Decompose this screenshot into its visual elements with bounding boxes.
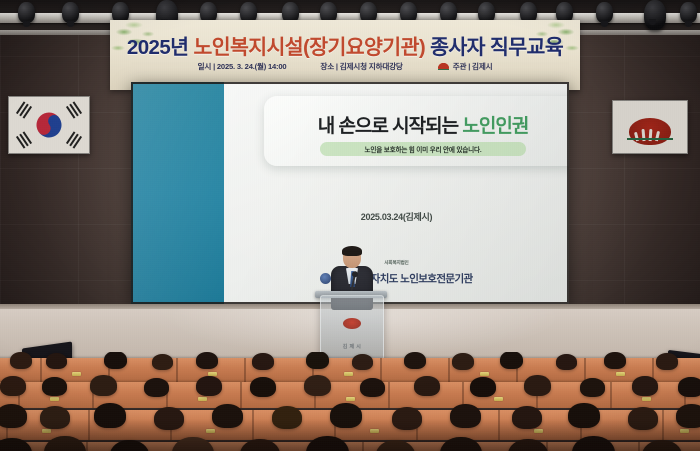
gimje-city-flag (612, 100, 688, 154)
banner-title: 2025년 노인복지시설(장기요양기관) 종사자 직무교육 (110, 30, 580, 60)
photo-scene: 2025년 노인복지시설(장기요양기관) 종사자 직무교육 일시 | 2025.… (0, 0, 700, 451)
city-emblem-bar-icon (627, 138, 673, 140)
podium-emblem-icon (343, 318, 361, 329)
audience-member (452, 353, 474, 370)
audience-member (508, 439, 548, 451)
audience-member (0, 404, 27, 428)
audience-member (352, 354, 373, 370)
slide-footer-org: 전북특별자치도 노인보호전문기관 (224, 271, 569, 286)
par-can-stage-light (644, 0, 666, 30)
slide-title-card: 내 손으로 시작되는 노인인권 노인을 보호하는 힘 이미 우리 안에 있습니다… (264, 96, 569, 166)
event-banner: 2025년 노인복지시설(장기요양기관) 종사자 직무교육 일시 | 2025.… (110, 20, 580, 90)
banner-subheader: 일시 | 2025. 3. 24.(월) 14:00 장소 | 김제시청 지하대… (110, 61, 580, 72)
audience-member (580, 378, 605, 397)
slide-footer-small: 사회복지법인 (224, 260, 569, 266)
audience-member (404, 352, 426, 369)
audience-member (392, 407, 422, 430)
audience-member (0, 376, 26, 396)
audience-member (512, 406, 542, 429)
audience-member (604, 352, 626, 369)
audience-member (252, 353, 274, 370)
banner-title-prefix: 2025년 (127, 36, 194, 59)
par-can-stage-light (18, 2, 35, 23)
audience-member (306, 352, 329, 369)
trigram-icon (16, 101, 32, 118)
banner-date-label: 일시 | 2025. 3. 24.(월) 14:00 (198, 61, 287, 72)
audience-member (304, 375, 331, 396)
audience-member (240, 439, 280, 451)
trigram-icon (66, 101, 82, 118)
audience-member (628, 407, 658, 430)
banner-title-highlight: 노인복지시설(장기요양기관) (193, 36, 425, 59)
slide-left-color-band (131, 82, 224, 304)
banner-host-group: 주관 | 김제시 (437, 61, 493, 72)
audience-member (10, 352, 32, 369)
slide-subtitle-pill: 노인을 보호하는 힘 이미 우리 안에 있습니다. (320, 142, 526, 156)
podium-engraving: 김 제 시 (321, 343, 383, 350)
audience-member (46, 353, 67, 369)
gimje-city-logo-icon (437, 62, 450, 70)
audience-member (414, 376, 440, 396)
taegeuk-icon (32, 108, 67, 143)
banner-host-label: 주관 | 김제시 (453, 62, 493, 71)
audience-member (330, 403, 362, 428)
trigram-icon (66, 131, 82, 148)
audience-member (154, 407, 184, 430)
trigram-icon (16, 131, 32, 148)
audience-member (524, 375, 551, 396)
audience-member (212, 404, 243, 428)
audience-member (152, 354, 173, 370)
audience-member (470, 377, 496, 397)
slide-date-location: 2025.03.24(김제시) (224, 210, 569, 223)
audience-member (250, 377, 276, 397)
audience-member (678, 377, 700, 397)
banner-title-suffix: 종사자 직무교육 (425, 36, 563, 59)
audience-member (360, 378, 385, 397)
slide-title-accent: 노인인권 (462, 116, 528, 137)
audience-member (272, 406, 302, 429)
par-can-stage-light (596, 2, 613, 23)
par-can-stage-light (62, 2, 79, 23)
audience-member (556, 354, 577, 370)
audience-member (196, 376, 222, 396)
audience-member (450, 404, 481, 428)
acrylic-podium: 김 제 시 (320, 295, 384, 359)
audience-member (568, 403, 600, 428)
audience-member (40, 406, 70, 429)
slide-title-main: 내 손으로 시작되는 (318, 116, 463, 137)
slide-title: 내 손으로 시작되는 노인인권 (264, 111, 569, 138)
audience-member (656, 353, 678, 370)
audience-area (0, 352, 700, 451)
audience-member (90, 375, 117, 396)
audience-member (42, 377, 67, 396)
par-can-stage-light (680, 2, 697, 23)
audience-member (196, 352, 218, 369)
korean-national-flag (8, 96, 90, 154)
slide-body: 내 손으로 시작되는 노인인권 노인을 보호하는 힘 이미 우리 안에 있습니다… (224, 82, 569, 304)
slide-subtitle: 노인을 보호하는 힘 이미 우리 안에 있습니다. (364, 144, 481, 154)
audience-member (104, 352, 127, 369)
audience-member (632, 376, 658, 396)
audience-member (676, 404, 700, 428)
audience-member (94, 403, 126, 428)
audience-member (144, 378, 169, 397)
org-seal-icon (320, 273, 331, 284)
audience-member (500, 352, 523, 369)
banner-place-label: 장소 | 김제시청 지하대강당 (320, 61, 402, 72)
presenter-hair (342, 246, 362, 256)
